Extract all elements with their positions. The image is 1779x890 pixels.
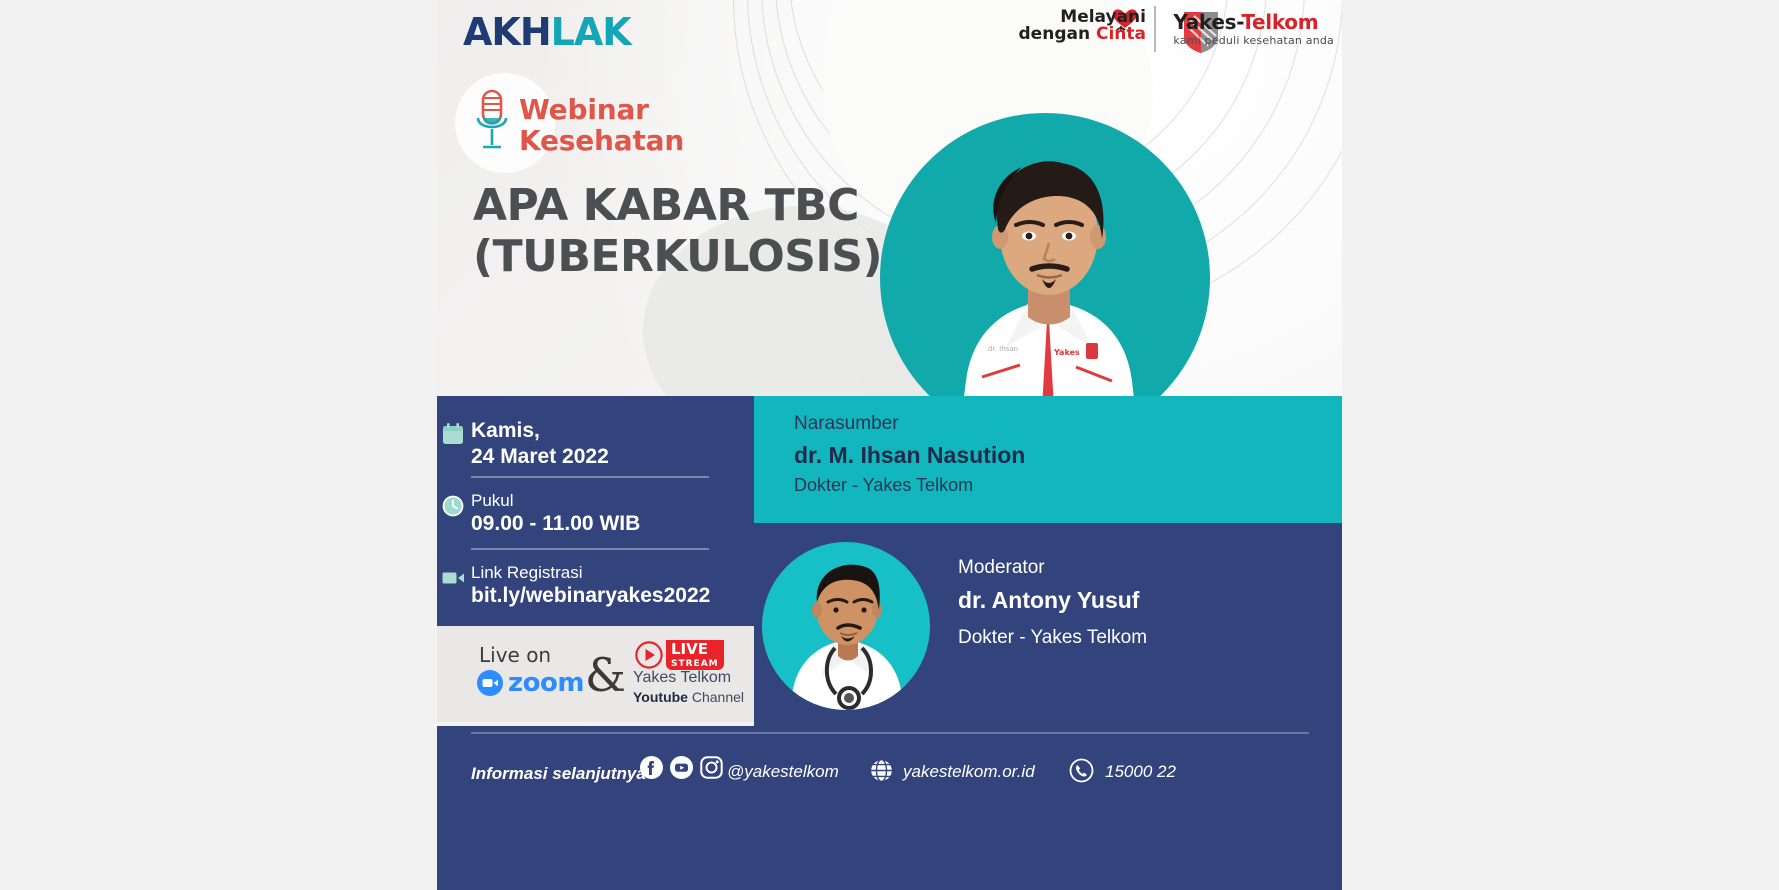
narasumber-text: Narasumber dr. M. Ihsan Nasution Dokter … [794,410,1025,498]
details-divider-1 [471,476,709,478]
phone-text: 15000 22 [1105,762,1176,782]
yakes-telkom-name: Yakes-Telkom [1173,10,1334,34]
event-date-label: Kamis, [471,418,609,444]
social-icons-group [640,756,723,779]
globe-icon [869,758,894,783]
calendar-icon [441,422,465,446]
header-divider [1154,6,1156,52]
zoom-camera-icon [477,670,503,696]
details-divider-2 [471,548,709,550]
narasumber-band: Narasumber dr. M. Ihsan Nasution Dokter … [754,396,1342,523]
moderator-text: Moderator dr. Antony Yusuf Dokter - Yake… [958,553,1147,658]
svg-text:dr. Ihsan: dr. Ihsan [988,345,1018,353]
footer-divider [471,732,1309,734]
moderator-name: dr. Antony Yusuf [958,583,1147,619]
youtube-icon[interactable] [670,756,693,779]
narasumber-role: Narasumber [794,410,1025,439]
melayani-line2: dengan Cinta [1019,26,1146,43]
live-on-label: Live on [479,643,551,667]
event-date-value: 24 Maret 2022 [471,444,609,470]
moderator-role: Moderator [958,553,1147,583]
video-camera-icon [441,566,465,590]
yakes-telkom-tagline: kami peduli kesehatan anda [1173,34,1334,47]
live-stream-badge: LIVE STREAM [635,640,724,670]
moderator-band: Moderator dr. Antony Yusuf Dokter - Yake… [754,523,1342,726]
moderator-photo-circle [762,542,930,710]
webinar-badge-line1: Webinar [519,94,684,125]
melayani-dengan-cinta-text: Melayani dengan Cinta [1019,9,1146,44]
moderator-org: Dokter - Yakes Telkom [958,619,1147,658]
speaker-photo-circle: Yakes dr. Ihsan [880,113,1210,443]
event-time-value: 09.00 - 11.00 WIB [471,511,640,537]
yakes-telkom-logo: Yakes-Telkom kami peduli kesehatan anda [1173,10,1334,47]
play-button-icon [635,641,663,669]
akhlak-logo-part1: AKH [463,10,551,54]
phone-icon [1069,758,1094,783]
youtube-channel-line2: Youtube Channel [633,689,744,705]
youtube-channel-line1: Yakes Telkom [633,669,731,687]
event-link-label: Link Registrasi [471,562,710,583]
webinar-badge-line2: Kesehatan [519,125,684,156]
zoom-logo: zoom [477,668,584,698]
event-link-value[interactable]: bit.ly/webinaryakes2022 [471,583,710,609]
live-platforms-strip: Live on zoom & LIVE STREAM Yakes Telkom … [437,626,754,722]
social-handle: @yakestelkom [727,762,839,782]
svg-text:Yakes: Yakes [1053,348,1080,357]
website-text: yakestelkom.or.id [903,762,1035,782]
microphone-icon [472,88,512,154]
narasumber-org: Dokter - Yakes Telkom [794,472,1025,498]
facebook-icon[interactable] [640,756,663,779]
ampersand-separator: & [585,648,626,702]
moderator-photo [780,556,914,710]
event-date-row: Kamis, 24 Maret 2022 [471,418,609,469]
akhlak-logo-part2: LAK [551,10,631,54]
poster-footer: Informasi selanjutnya @yakestelkom [437,726,1342,890]
narasumber-name: dr. M. Ihsan Nasution [794,439,1025,472]
footer-info-label: Informasi selanjutnya [471,764,646,784]
akhlak-logo: AKHLAK [463,10,631,54]
zoom-wordmark: zoom [508,668,584,698]
live-badge-text: LIVE [666,640,724,658]
webinar-badge-text: Webinar Kesehatan [519,94,684,157]
event-link-row: Link Registrasi bit.ly/webinaryakes2022 [471,562,710,609]
event-time-label: Pukul [471,490,640,511]
instagram-icon[interactable] [700,756,723,779]
webinar-poster: AKHLAK Melayani dengan Cinta Yakes-Telko… [437,0,1342,890]
event-time-row: Pukul 09.00 - 11.00 WIB [471,490,640,537]
event-details-panel: Kamis, 24 Maret 2022 Pukul 09.00 - 11.00… [437,396,754,626]
clock-icon [441,494,465,518]
